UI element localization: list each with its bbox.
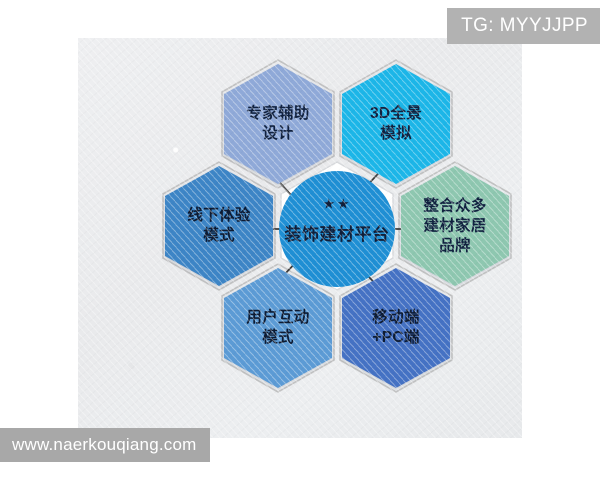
website-watermark-banner: www.naerkouqiang.com [0,428,210,462]
figure-card: 专家辅助 设计 3D全景 模拟 线下体验 模式 整合众多 建材家居 品牌 用户互… [78,38,522,438]
telegram-watermark-banner: TG: MYYJJPP [447,8,600,44]
center-hub-circle[interactable] [279,171,395,287]
hexagon-diagram [78,38,522,438]
